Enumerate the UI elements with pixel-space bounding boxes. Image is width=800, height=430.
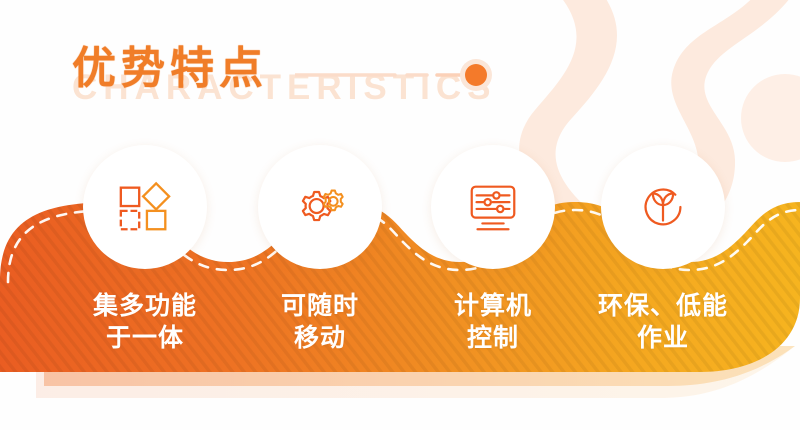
feature-circle-eco-low-energy[interactable]: [601, 145, 725, 269]
feature-circle-computer-control[interactable]: [431, 145, 555, 269]
divider-dot: [465, 64, 487, 86]
shapes-grid-icon: [116, 178, 174, 236]
feature-label-eco-low-energy: 环保、低能 作业: [573, 290, 753, 354]
divider-line: [295, 55, 495, 95]
poster-canvas: CHARACTERISTICS 优势特点: [0, 0, 800, 430]
gears-icon: [291, 178, 349, 236]
header: CHARACTERISTICS 优势特点: [0, 0, 800, 130]
sprout-icon: [634, 178, 692, 236]
feature-circle-mobile-anytime[interactable]: [258, 145, 382, 269]
page-title: 优势特点: [72, 32, 268, 96]
control-panel-icon: [464, 178, 522, 236]
feature-label-mobile-anytime: 可随时 移动: [230, 290, 410, 354]
feature-banner: 集多功能 于一体 可随时 移动 计算机 控制 环保、低能 作业: [0, 150, 800, 430]
feature-label-multi-function: 集多功能 于一体: [55, 290, 235, 354]
feature-label-computer-control: 计算机 控制: [403, 290, 583, 354]
feature-circle-multi-function[interactable]: [83, 145, 207, 269]
